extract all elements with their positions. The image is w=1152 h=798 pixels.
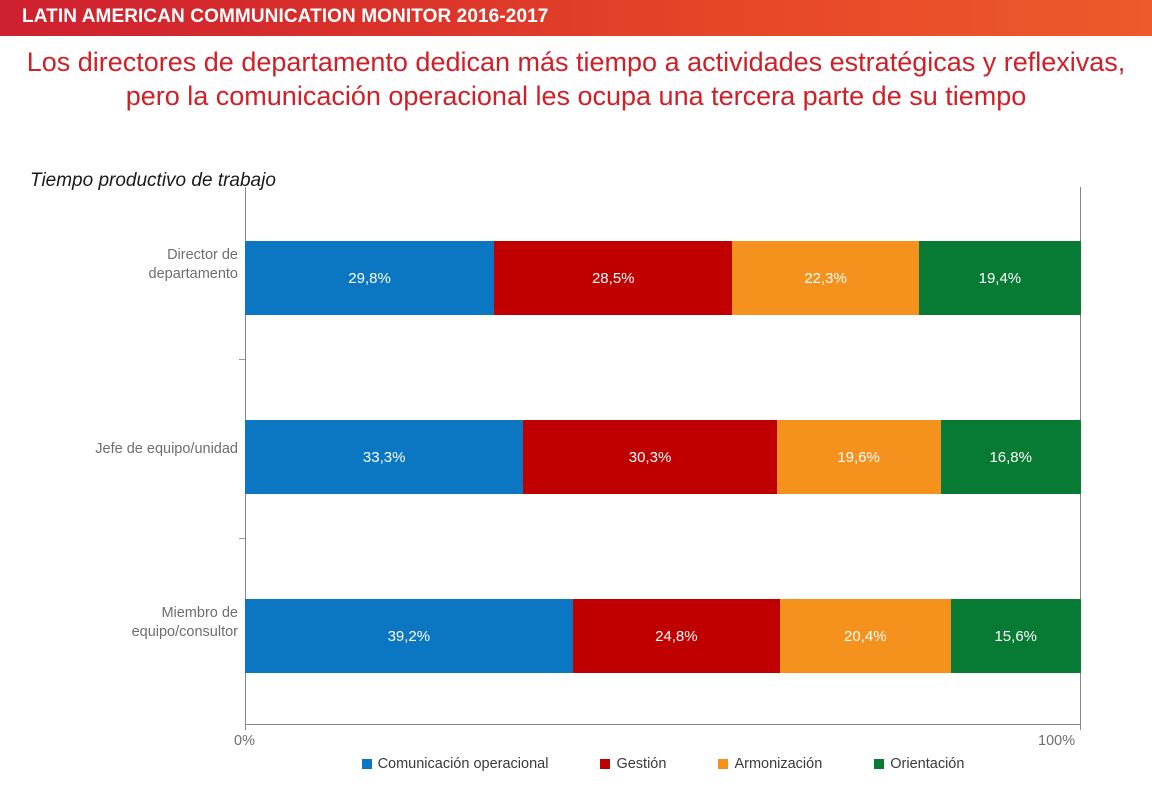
- y-axis-tick: [239, 538, 245, 539]
- bar-segment[interactable]: 28,5%: [494, 241, 732, 315]
- bar-value-label: 33,3%: [363, 449, 406, 466]
- bar-segment[interactable]: 19,4%: [919, 241, 1081, 315]
- x-axis-line: [245, 724, 1081, 725]
- legend-label: Orientación: [890, 756, 964, 772]
- y-axis-category-label: Jefe de equipo/unidad: [88, 440, 238, 459]
- bar-value-label: 16,8%: [989, 449, 1032, 466]
- bar-row: 39,2%24,8%20,4%15,6%: [245, 599, 1081, 673]
- bar-value-label: 20,4%: [844, 628, 887, 645]
- bar-segment[interactable]: 20,4%: [780, 599, 951, 673]
- legend-label: Comunicación operacional: [378, 756, 549, 772]
- legend-swatch-icon: [874, 759, 884, 769]
- bar-segment[interactable]: 16,8%: [941, 420, 1081, 494]
- bar-value-label: 19,4%: [979, 270, 1022, 287]
- bar-value-label: 29,8%: [348, 270, 391, 287]
- bar-value-label: 28,5%: [592, 270, 635, 287]
- y-axis-category-label: Miembro deequipo/consultor: [88, 604, 238, 642]
- y-axis-category-label-line: Miembro de: [88, 604, 238, 623]
- legend-label: Armonización: [734, 756, 822, 772]
- y-axis-category-label-line: Director de: [88, 246, 238, 265]
- x-axis-label-min: 0%: [234, 733, 255, 749]
- bar-value-label: 39,2%: [388, 628, 431, 645]
- bar-segment[interactable]: 30,3%: [523, 420, 776, 494]
- bar-segment[interactable]: 39,2%: [245, 599, 573, 673]
- y-axis-tick: [239, 359, 245, 360]
- bar-segment[interactable]: 33,3%: [245, 420, 523, 494]
- legend-item[interactable]: Orientación: [874, 756, 964, 772]
- bar-row: 29,8%28,5%22,3%19,4%: [245, 241, 1081, 315]
- bar-row: 33,3%30,3%19,6%16,8%: [245, 420, 1081, 494]
- x-axis-tick-end: [1080, 724, 1081, 730]
- y-axis-category-label-line: equipo/consultor: [88, 623, 238, 642]
- x-axis-tick-start: [245, 724, 246, 730]
- legend-item[interactable]: Armonización: [718, 756, 822, 772]
- bar-value-label: 30,3%: [629, 449, 672, 466]
- header-band: LATIN AMERICAN COMMUNICATION MONITOR 201…: [0, 0, 1152, 36]
- bar-segment[interactable]: 29,8%: [245, 241, 494, 315]
- y-axis-category-label-line: Jefe de equipo/unidad: [88, 440, 238, 459]
- chart-legend: Comunicación operacionalGestiónArmonizac…: [245, 756, 1081, 772]
- bar-segment[interactable]: 15,6%: [951, 599, 1081, 673]
- chart-container: Tiempo productivo de trabajo Director de…: [0, 160, 1152, 798]
- bar-value-label: 19,6%: [837, 449, 880, 466]
- bar-segment[interactable]: 24,8%: [573, 599, 780, 673]
- bar-value-label: 24,8%: [655, 628, 698, 645]
- chart-subtitle: Tiempo productivo de trabajo: [30, 170, 276, 192]
- header-title: LATIN AMERICAN COMMUNICATION MONITOR 201…: [22, 6, 548, 28]
- legend-swatch-icon: [718, 759, 728, 769]
- bar-value-label: 15,6%: [994, 628, 1037, 645]
- y-axis-category-label: Director dedepartamento: [88, 246, 238, 284]
- bar-segment[interactable]: 22,3%: [732, 241, 918, 315]
- bar-segment[interactable]: 19,6%: [777, 420, 941, 494]
- x-axis-label-max: 100%: [1038, 733, 1075, 749]
- y-axis-category-label-line: departamento: [88, 265, 238, 284]
- legend-swatch-icon: [600, 759, 610, 769]
- slide-headline: Los directores de departamento dedican m…: [26, 45, 1126, 113]
- legend-label: Gestión: [616, 756, 666, 772]
- legend-swatch-icon: [362, 759, 372, 769]
- legend-item[interactable]: Comunicación operacional: [362, 756, 549, 772]
- legend-item[interactable]: Gestión: [600, 756, 666, 772]
- bar-value-label: 22,3%: [804, 270, 847, 287]
- plot-area: 29,8%28,5%22,3%19,4%33,3%30,3%19,6%16,8%…: [245, 187, 1081, 725]
